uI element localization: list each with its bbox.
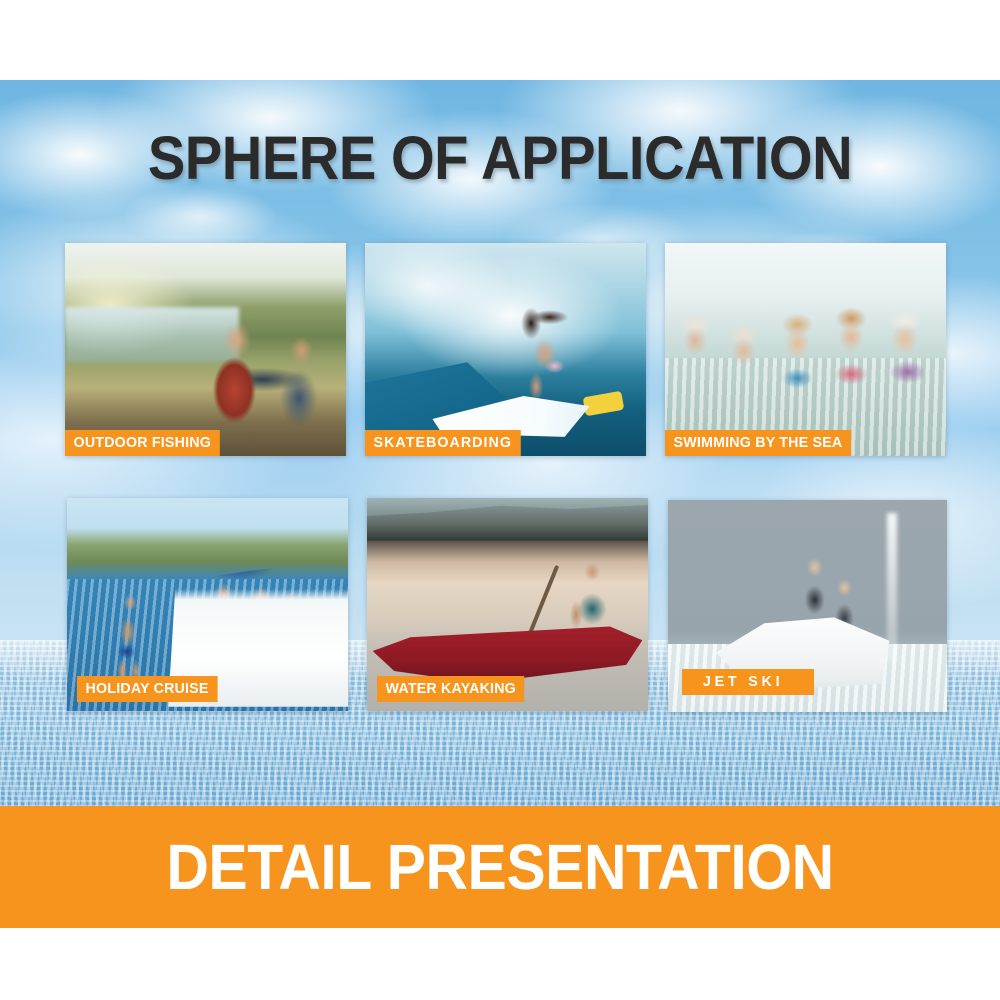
poster-canvas: SPHERE OF APPLICATION OUTDOOR FISHING SK… — [0, 80, 1000, 928]
badge-holiday-cruise: HOLIDAY CRUISE — [77, 676, 217, 702]
skateboarding-photo — [365, 243, 646, 456]
tile-swimming-by-the-sea[interactable]: SWIMMING BY THE SEA — [665, 243, 946, 456]
jumping-swimmer-figure — [101, 587, 157, 685]
badge-swimming-by-the-sea: SWIMMING BY THE SEA — [665, 430, 851, 456]
jet-ski-riders-figure — [796, 555, 874, 657]
tile-skateboarding[interactable]: SKATEBOARDING — [365, 243, 646, 456]
kayaker-figure — [547, 558, 620, 656]
tile-jet-ski[interactable]: JET SKI — [668, 500, 947, 712]
detail-presentation-banner: DETAIL PRESENTATION — [0, 806, 1000, 928]
tile-water-kayaking[interactable]: WATER KAYAKING — [367, 498, 648, 711]
tile-holiday-cruise[interactable]: HOLIDAY CRUISE — [67, 498, 348, 711]
tile-outdoor-fishing[interactable]: OUTDOOR FISHING — [65, 243, 346, 456]
badge-jet-ski: JET SKI — [682, 669, 814, 695]
water-spray — [887, 513, 897, 661]
banner-title: DETAIL PRESENTATION — [40, 806, 960, 928]
badge-outdoor-fishing: OUTDOOR FISHING — [65, 430, 220, 456]
application-tile-grid: OUTDOOR FISHING SKATEBOARDING SWIMMING B… — [0, 80, 1000, 928]
outdoor-fishing-photo — [65, 243, 346, 456]
badge-water-kayaking: WATER KAYAKING — [377, 676, 525, 702]
surfer-figure — [511, 307, 595, 409]
swimming-by-the-sea-photo — [665, 243, 946, 456]
badge-skateboarding: SKATEBOARDING — [365, 430, 521, 456]
